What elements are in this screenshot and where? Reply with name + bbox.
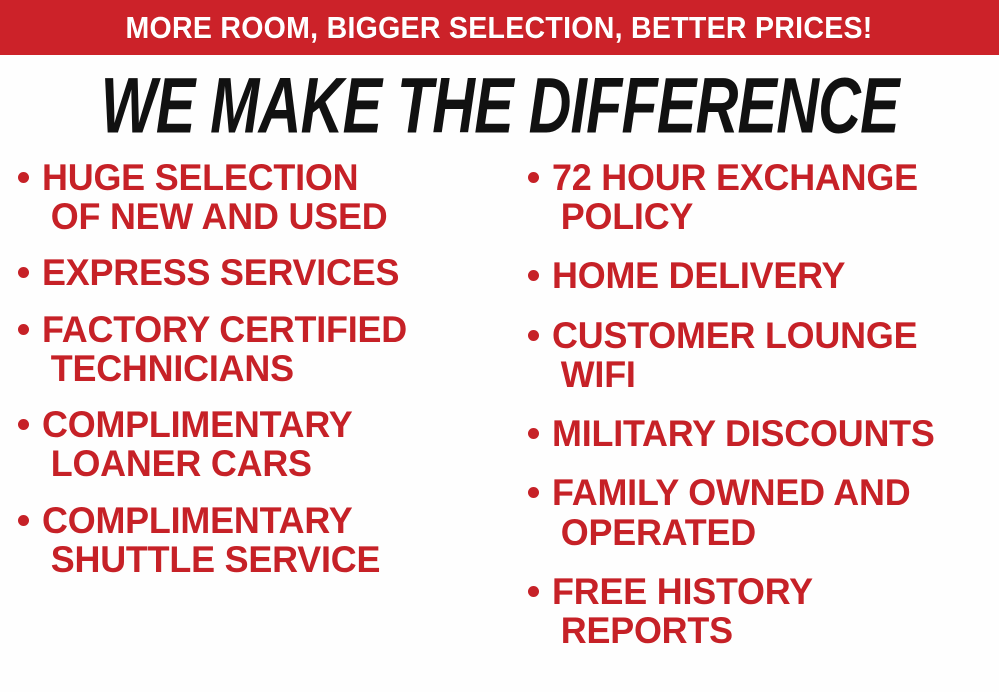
feature-label-line2: REPORTS xyxy=(552,611,813,650)
list-item: HUGE SELECTION OF NEW AND USED xyxy=(18,158,508,236)
feature-label: FACTORY CERTIFIED TECHNICIANS xyxy=(42,310,407,388)
feature-label: FAMILY OWNED AND OPERATED xyxy=(552,473,910,551)
page-title: WE MAKE THE DIFFERENCE xyxy=(100,67,898,145)
feature-label-line2: SHUTTLE SERVICE xyxy=(42,540,380,579)
feature-label: CUSTOMER LOUNGE WIFI xyxy=(552,316,917,394)
feature-label: HUGE SELECTION OF NEW AND USED xyxy=(42,158,387,236)
bullet-icon xyxy=(18,515,29,526)
bullet-icon xyxy=(528,330,539,341)
top-promo-strip-text: MORE ROOM, BIGGER SELECTION, BETTER PRIC… xyxy=(126,12,873,43)
feature-label-line1: MILITARY DISCOUNTS xyxy=(552,413,935,454)
feature-label: 72 HOUR EXCHANGE POLICY xyxy=(552,158,918,236)
feature-label: MILITARY DISCOUNTS xyxy=(552,414,935,453)
feature-label: COMPLIMENTARY LOANER CARS xyxy=(42,405,353,483)
feature-label-line1: COMPLIMENTARY xyxy=(42,500,353,541)
feature-label-line2: OF NEW AND USED xyxy=(42,197,387,236)
feature-label: HOME DELIVERY xyxy=(552,256,845,295)
feature-label-line1: CUSTOMER LOUNGE xyxy=(552,315,917,356)
headline-container: WE MAKE THE DIFFERENCE xyxy=(0,68,999,144)
feature-label-line1: HUGE SELECTION xyxy=(42,157,358,198)
feature-label-line1: 72 HOUR EXCHANGE xyxy=(552,157,918,198)
bullet-icon xyxy=(528,428,539,439)
bullet-icon xyxy=(18,172,29,183)
feature-label: FREE HISTORY REPORTS xyxy=(552,572,813,650)
list-item: EXPRESS SERVICES xyxy=(18,253,508,292)
feature-label-line2: TECHNICIANS xyxy=(42,349,407,388)
feature-list-left: HUGE SELECTION OF NEW AND USED EXPRESS S… xyxy=(0,158,508,596)
list-item: FAMILY OWNED AND OPERATED xyxy=(528,473,999,551)
feature-label-line2: OPERATED xyxy=(552,513,910,552)
feature-label-line1: FREE HISTORY xyxy=(552,571,813,612)
feature-label: COMPLIMENTARY SHUTTLE SERVICE xyxy=(42,501,380,579)
list-item: FREE HISTORY REPORTS xyxy=(528,572,999,650)
feature-label-line2: WIFI xyxy=(552,355,917,394)
bullet-icon xyxy=(528,586,539,597)
feature-label-line1: EXPRESS SERVICES xyxy=(42,252,399,293)
feature-label: EXPRESS SERVICES xyxy=(42,253,399,292)
bullet-icon xyxy=(18,267,29,278)
top-promo-strip: MORE ROOM, BIGGER SELECTION, BETTER PRIC… xyxy=(0,0,999,55)
feature-columns: HUGE SELECTION OF NEW AND USED EXPRESS S… xyxy=(0,158,999,692)
feature-label-line2: POLICY xyxy=(552,197,918,236)
list-item: COMPLIMENTARY LOANER CARS xyxy=(18,405,508,483)
list-item: FACTORY CERTIFIED TECHNICIANS xyxy=(18,310,508,388)
promotional-banner: MORE ROOM, BIGGER SELECTION, BETTER PRIC… xyxy=(0,0,999,692)
bullet-icon xyxy=(18,419,29,430)
feature-list-right: 72 HOUR EXCHANGE POLICY HOME DELIVERY CU… xyxy=(508,158,999,670)
bullet-icon xyxy=(528,270,539,281)
bullet-icon xyxy=(528,487,539,498)
feature-label-line2: LOANER CARS xyxy=(42,444,353,483)
bullet-icon xyxy=(528,172,539,183)
feature-label-line1: FACTORY CERTIFIED xyxy=(42,309,407,350)
feature-label-line1: HOME DELIVERY xyxy=(552,255,845,296)
feature-label-line1: COMPLIMENTARY xyxy=(42,404,353,445)
list-item: CUSTOMER LOUNGE WIFI xyxy=(528,316,999,394)
list-item: HOME DELIVERY xyxy=(528,256,999,295)
feature-label-line1: FAMILY OWNED AND xyxy=(552,472,910,513)
list-item: MILITARY DISCOUNTS xyxy=(528,414,999,453)
list-item: COMPLIMENTARY SHUTTLE SERVICE xyxy=(18,501,508,579)
bullet-icon xyxy=(18,324,29,335)
list-item: 72 HOUR EXCHANGE POLICY xyxy=(528,158,999,236)
